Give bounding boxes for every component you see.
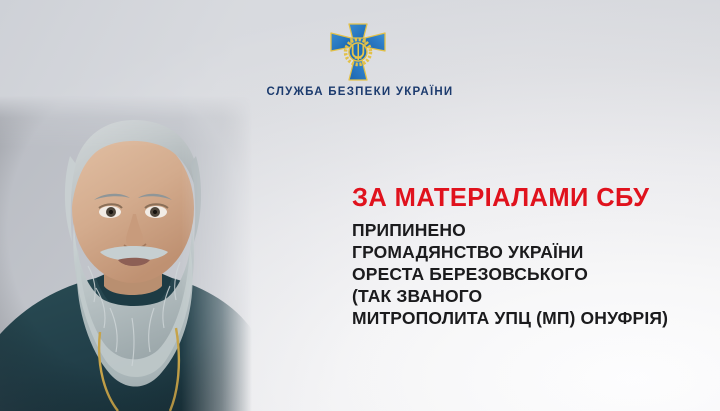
body-line-5: МИТРОПОЛИТА УПЦ (МП) ОНУФРІЯ) (352, 307, 668, 329)
body-line-2: ГРОМАДЯНСТВО УКРАЇНИ (352, 241, 668, 263)
sbu-cross-emblem (329, 22, 387, 82)
headline: ЗА МАТЕРІАЛАМИ СБУ (352, 186, 649, 212)
body-copy: ПРИПИНЕНО ГРОМАДЯНСТВО УКРАЇНИ ОРЕСТА БЕ… (352, 219, 668, 329)
body-line-4: (ТАК ЗВАНОГО (352, 285, 668, 307)
portrait-photo (0, 96, 252, 411)
sbu-announcement-poster: СЛУЖБА БЕЗПЕКИ УКРАЇНИ (0, 0, 720, 411)
body-line-1: ПРИПИНЕНО (352, 219, 668, 241)
body-line-3: ОРЕСТА БЕРЕЗОВСЬКОГО (352, 263, 668, 285)
